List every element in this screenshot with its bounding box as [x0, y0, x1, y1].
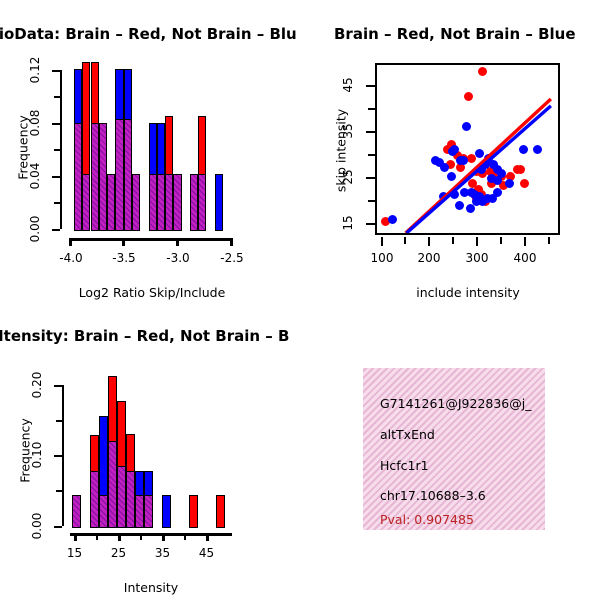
- scatter-xtick-label-1: 200: [409, 251, 449, 265]
- intensity-x-tick-25: [118, 533, 121, 541]
- ratio-ytick-label-2: 0.04: [28, 158, 42, 194]
- ratio-ytick-label-1: 0.08: [28, 105, 42, 141]
- intensity-x-tick-35: [162, 533, 165, 541]
- hist-bar-overlap: [173, 174, 181, 231]
- intensity-histogram-xlabel: Intensity: [70, 580, 232, 595]
- intensity-x-tick-15: [74, 533, 77, 541]
- ratio-x-tick-3: [230, 238, 233, 246]
- ratio-xtick-label-1: -3.5: [104, 251, 144, 265]
- scatter-fit-lines: [377, 65, 558, 233]
- ratio-y-tick-002: [54, 202, 60, 204]
- hist-bar-overlap: [198, 174, 206, 231]
- scatter-ytick-label-1: 35: [341, 116, 355, 146]
- intensity-ytick-label-1: 0.10: [30, 437, 44, 473]
- hist-bar-brain: [189, 495, 198, 528]
- ratio-x-tick-0: [69, 238, 72, 246]
- scatter-plot-area: [375, 63, 560, 235]
- intensity-x-tick-20: [96, 533, 98, 540]
- info-coordinates: chr17.10688–3.6: [380, 488, 486, 503]
- scatter-xtick-label-3: 400: [505, 251, 545, 265]
- ratio-y-tick-012: [52, 70, 60, 72]
- intensity-histogram-plot-area: [70, 372, 230, 528]
- scatter-ytick-label-0: 45: [341, 70, 355, 100]
- scatter-y-tick-40: [368, 108, 375, 110]
- hist-bar-overlap: [126, 471, 135, 528]
- scatter-y-tick-30: [368, 154, 375, 156]
- ratio-xtick-label-0: -4.0: [51, 251, 91, 265]
- hist-bar-overlap: [91, 123, 99, 231]
- intensity-ytick-label-0: 0.20: [30, 367, 44, 403]
- scatter-x-tick-250: [452, 237, 454, 244]
- scatter-x-tick-300: [476, 237, 478, 246]
- scatter-ytick-label-2: 25: [341, 162, 355, 192]
- hist-bar-overlap: [108, 441, 117, 528]
- ratio-y-tick-004: [52, 176, 60, 178]
- hist-bar-overlap: [190, 174, 198, 231]
- intensity-ytick-label-2: 0.00: [30, 508, 44, 544]
- event-info-box: G7141261@J922836@j_ altTxEnd Hcfc1r1 chr…: [363, 368, 545, 530]
- scatter-y-tick-45: [366, 85, 375, 87]
- ratio-x-tick-1: [122, 238, 125, 246]
- intensity-xtick-label-3: 45: [188, 546, 225, 560]
- hist-bar-overlap: [165, 174, 173, 231]
- ratio-histogram-xlabel: Log2 Ratio Skip/Include: [68, 285, 236, 300]
- ratio-xtick-label-3: -2.5: [212, 251, 252, 265]
- ratio-ytick-label-3: 0.00: [28, 211, 42, 247]
- hist-bar-overlap: [124, 119, 132, 231]
- hist-bar-overlap: [82, 174, 90, 231]
- intensity-y-tick-000: [54, 526, 62, 528]
- scatter-x-tick-200: [428, 237, 430, 246]
- scatter-x-tick-350: [500, 237, 502, 244]
- ratio-xtick-label-2: -3.0: [158, 251, 198, 265]
- info-pval: Pval: 0.907485: [380, 512, 474, 527]
- intensity-histogram-title: ne Itensity: Brain – Red, Not Brain – B: [0, 327, 289, 345]
- hist-bar-overlap: [132, 174, 140, 231]
- intensity-x-tick-45: [206, 533, 209, 541]
- ratio-y-tick-008: [52, 123, 60, 125]
- hist-bar-overlap: [99, 495, 108, 528]
- intensity-x-tick-40: [184, 533, 186, 540]
- ratio-histogram-xaxis: [69, 238, 233, 241]
- hist-bar-overlap: [149, 174, 157, 231]
- hist-bar-overlap: [157, 174, 165, 231]
- ratio-x-tick-2: [176, 238, 179, 246]
- scatter-x-tick-100: [381, 237, 383, 246]
- intensity-histogram-yaxis: [62, 385, 64, 526]
- hist-bar-not-brain: [215, 174, 223, 231]
- info-event-type: altTxEnd: [380, 427, 435, 442]
- scatter-y-tick-20: [368, 200, 375, 202]
- ratio-histogram-title: RatioData: Brain – Red, Not Brain – Blu: [0, 25, 297, 43]
- intensity-y-tick-005: [56, 490, 62, 492]
- intensity-y-tick-015: [56, 420, 62, 422]
- scatter-y-tick-25: [366, 177, 375, 179]
- hist-bar-overlap: [144, 495, 153, 528]
- hist-bar-overlap: [115, 119, 123, 231]
- scatter-y-tick-35: [366, 131, 375, 133]
- hist-bar-overlap: [107, 174, 115, 231]
- scatter-x-tick-400: [524, 237, 526, 246]
- hist-bar-overlap: [99, 123, 107, 231]
- hist-bar-not-brain: [162, 495, 171, 528]
- info-gene-symbol: Hcfc1r1: [380, 458, 429, 473]
- hist-bar-overlap: [117, 466, 126, 528]
- scatter-x-tick-450: [548, 237, 550, 244]
- hist-bar-overlap: [90, 471, 99, 528]
- scatter-title: Brain – Red, Not Brain – Blue: [334, 25, 576, 43]
- ratio-histogram-plot-area: [69, 62, 231, 231]
- scatter-y-tick-15: [366, 223, 375, 225]
- hist-bar-overlap: [74, 123, 82, 231]
- intensity-xtick-label-1: 25: [100, 546, 137, 560]
- scatter-x-tick-150: [404, 237, 406, 244]
- hist-bar-brain: [216, 495, 225, 528]
- scatter-xtick-label-2: 300: [457, 251, 497, 265]
- ratio-y-tick-010: [54, 96, 60, 98]
- scatter-xlabel: include intensity: [378, 285, 558, 300]
- scatter-ytick-label-3: 15: [341, 208, 355, 238]
- info-event-id: G7141261@J922836@j_: [380, 396, 531, 411]
- intensity-y-tick-020: [54, 385, 62, 387]
- scatter-xtick-label-0: 100: [362, 251, 402, 265]
- hist-bar-overlap: [135, 495, 144, 528]
- ratio-y-tick-006: [54, 149, 60, 151]
- intensity-xtick-label-2: 35: [144, 546, 181, 560]
- ratio-ytick-label-0: 0.12: [28, 52, 42, 88]
- hist-bar-overlap: [72, 495, 81, 528]
- intensity-xtick-label-0: 15: [56, 546, 93, 560]
- ratio-y-tick-000: [52, 229, 60, 231]
- intensity-y-tick-010: [54, 455, 62, 457]
- intensity-x-tick-30: [140, 533, 142, 540]
- ratio-histogram-yaxis: [60, 70, 62, 229]
